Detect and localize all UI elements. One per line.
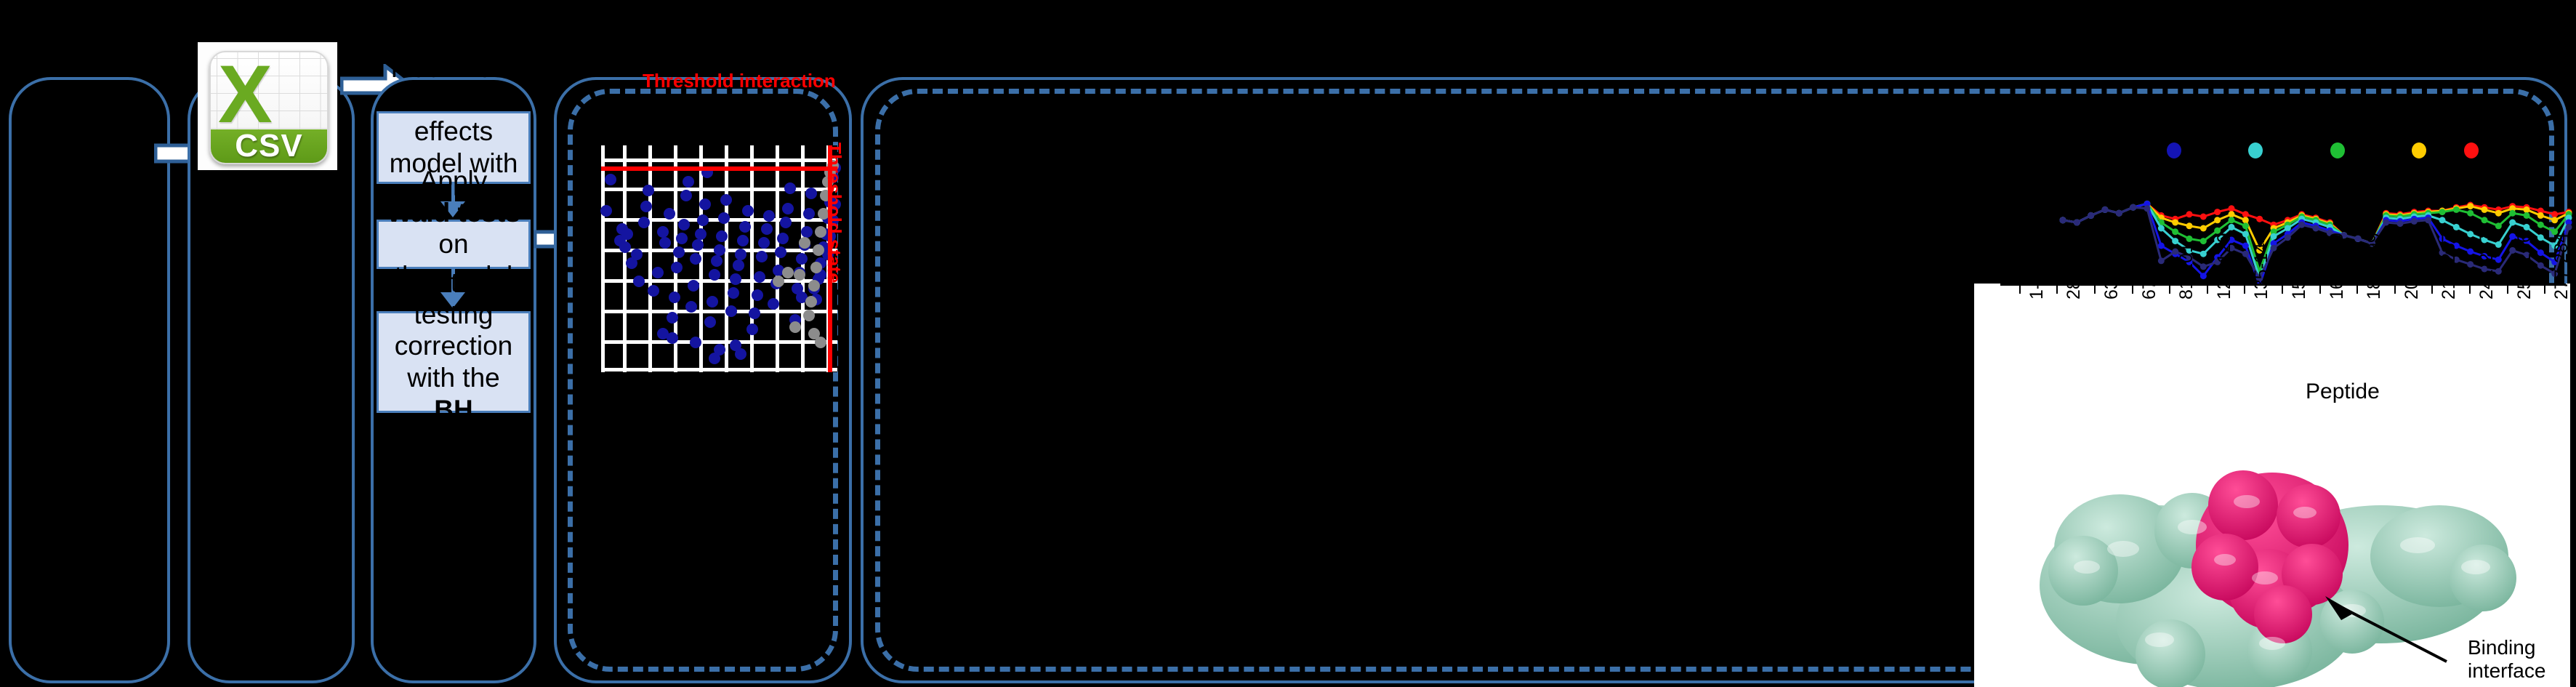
scatter-point (648, 285, 659, 297)
gridline-h (601, 158, 837, 162)
scatter-point (752, 289, 763, 301)
peptide-data-point (2200, 251, 2207, 257)
peptide-data-point (2060, 217, 2066, 223)
scatter-point (784, 182, 796, 194)
peptide-data-point (2229, 211, 2235, 217)
peptide-data-point (2509, 220, 2516, 226)
gridline-h (601, 368, 837, 371)
scatter-point (676, 233, 688, 244)
peptide-data-point (2242, 251, 2249, 257)
scatter-point (756, 251, 768, 262)
peptide-data-point (2482, 206, 2488, 213)
peptide-data-point (2537, 222, 2544, 228)
scatter-point (600, 205, 612, 217)
peptide-data-point (2229, 217, 2235, 223)
binding-interface-annotation: Binding interface (2468, 636, 2545, 683)
x-axis-tick (2094, 284, 2096, 294)
scatter-point (720, 194, 732, 206)
peptide-data-point (2116, 210, 2122, 217)
peptide-data-point (2256, 216, 2263, 222)
gridline-v (623, 145, 627, 372)
scatter-point (803, 310, 815, 321)
panel-1-empty (9, 77, 170, 683)
peptide-data-point (2411, 218, 2418, 225)
peptide-data-point (2102, 206, 2109, 213)
peptide-data-point (2524, 224, 2530, 230)
gridline-v (725, 145, 728, 372)
peptide-data-point (2313, 225, 2319, 232)
legend-dot-navy (2167, 142, 2181, 158)
peptide-data-point (2467, 249, 2474, 255)
scatter-point (782, 267, 794, 278)
legend-dot-green (2330, 142, 2345, 158)
peptide-data-point (2482, 217, 2488, 223)
peptide-data-point (2186, 236, 2193, 242)
x-axis-tick-label: 81-101 (2176, 243, 2197, 300)
peptide-data-point (2425, 217, 2431, 223)
scatter-point (695, 228, 707, 240)
peptide-data-point (2144, 205, 2151, 212)
peptide-data-point (2453, 224, 2460, 230)
scatter-point (733, 260, 744, 271)
x-axis-tick (2207, 284, 2208, 294)
step3-pre: with the (407, 363, 500, 393)
step2-post: on (438, 229, 468, 259)
peptide-data-point (2495, 222, 2502, 229)
peptide-data-point (2214, 209, 2221, 215)
scatter-point (775, 246, 786, 258)
scatter-point (801, 226, 813, 238)
binding-label-line1: Binding (2468, 636, 2545, 659)
peptide-data-point (2383, 220, 2389, 226)
peptide-data-point (2537, 249, 2544, 256)
scatter-point (652, 267, 664, 278)
peptide-data-point (2200, 225, 2207, 232)
peptide-data-point (2200, 238, 2207, 244)
x-axis-tick-label: 1-15 (2026, 263, 2048, 300)
x-axis-tick-label: 184-199 (2364, 233, 2385, 300)
scatter-point (789, 321, 801, 333)
x-axis-tick (2282, 284, 2283, 294)
scatter-point (730, 273, 741, 285)
scatter-point (749, 308, 760, 319)
x-axis-tick (2019, 284, 2021, 294)
scatter-point (739, 221, 751, 233)
scatter-point (709, 269, 720, 281)
scatter-point (777, 233, 789, 244)
legend-dot-red (2464, 142, 2479, 158)
x-axis-tick (2507, 284, 2508, 294)
x-axis-tick-label: 67-75 (2139, 253, 2160, 300)
scatter-point (633, 276, 645, 287)
gridline-v (750, 145, 754, 372)
peptide-data-point (2088, 212, 2094, 219)
x-axis-tick-label: 28-44 (2064, 253, 2085, 300)
scatter-point (735, 348, 746, 360)
peptide-data-point (2242, 243, 2249, 249)
scatter-point (796, 253, 808, 265)
scatter-point (754, 271, 765, 283)
peptide-data-point (2453, 206, 2460, 213)
peptide-data-point (2524, 206, 2530, 213)
scatter-point (761, 223, 773, 235)
scatter-point (725, 305, 737, 317)
scatter-point (716, 230, 728, 242)
x-axis-tick (2356, 284, 2358, 294)
x-axis-tick (2394, 284, 2396, 294)
threshold-interaction-line (601, 166, 837, 171)
peptide-data-point (2074, 220, 2080, 226)
x-axis-tick-label: 122-129 (2214, 233, 2235, 300)
peptide-data-point (2172, 228, 2178, 235)
step3-bold: BH (434, 395, 472, 425)
peptide-data-point (2397, 220, 2404, 227)
gridline-h (601, 310, 837, 313)
binding-label-line2: interface (2468, 659, 2545, 683)
peptide-data-point (2186, 211, 2193, 217)
scatter-point (671, 262, 683, 273)
peptide-data-point (2551, 217, 2558, 223)
scatter-point (704, 316, 716, 328)
gridline-v (776, 145, 779, 372)
scatter-point (669, 292, 680, 303)
threshold-interaction-label: Threshold interaction (643, 70, 836, 92)
peptide-data-point (2242, 222, 2249, 229)
x-axis-tick-label: 135-144 (2251, 233, 2272, 300)
peptide-data-point (2186, 222, 2193, 229)
peptide-data-point (2158, 243, 2165, 249)
scatter-point (763, 210, 775, 222)
peptide-data-point (2130, 204, 2136, 211)
step3-line1: Multiple testing (407, 268, 500, 329)
scatter-point (794, 269, 805, 281)
step-wald-tests: Apply Wald tests on the model parameters (377, 220, 531, 269)
peptide-data-point (2467, 210, 2474, 217)
peptide-data-point (2172, 220, 2178, 226)
scatter-point (697, 214, 709, 226)
step3-line2: correction (395, 331, 512, 361)
scatter-point (643, 185, 654, 196)
scatter-point (742, 205, 754, 217)
scatter-point (667, 312, 678, 324)
csv-band-label: CSV (235, 128, 302, 164)
peptide-data-point (2537, 212, 2544, 219)
x-axis-tick-label: 218-237 (2439, 233, 2460, 300)
scatter-point (718, 212, 730, 224)
peptide-data-point (2439, 209, 2446, 215)
threshold-scatter-plot (601, 145, 837, 372)
x-axis-tick-label: 158-166 (2289, 233, 2310, 300)
peptide-data-point (2242, 217, 2249, 223)
scatter-point (714, 244, 725, 256)
peptide-data-point (2200, 263, 2207, 270)
scatter-point (803, 208, 815, 220)
threshold-state-label: Threshold state (823, 142, 845, 284)
x-axis-tick (2244, 284, 2245, 294)
peptide-data-point (2537, 262, 2544, 269)
scatter-point (746, 324, 758, 335)
peptide-data-point (2242, 231, 2249, 238)
peptide-data-point (2551, 211, 2558, 217)
scatter-point (735, 249, 746, 260)
scatter-point (699, 198, 711, 210)
peptide-data-point (2467, 231, 2474, 238)
scatter-point (605, 174, 616, 185)
csv-file-icon: X CSV (209, 51, 329, 164)
legend-dot-cyan (2248, 142, 2263, 158)
x-axis-tick (2431, 284, 2433, 294)
legend-dot-yellow (2412, 142, 2426, 158)
scatter-point (758, 237, 770, 249)
csv-x-letter: X (218, 54, 273, 135)
scatter-point (638, 217, 650, 228)
scatter-point (711, 255, 723, 267)
scatter-point (780, 217, 792, 228)
x-axis-tick (2319, 284, 2321, 294)
peptide-data-point (2355, 236, 2362, 242)
peptide-data-point (2537, 234, 2544, 241)
x-axis-tick-label: 258-266 (2514, 233, 2535, 300)
peptide-data-point (2214, 217, 2221, 223)
step-bh-correction: Multiple testing correction with the BH … (377, 311, 531, 413)
x-axis-tick (2469, 284, 2471, 294)
scatter-point (690, 253, 701, 265)
step1-line1: Fit a linear mixed- (391, 53, 517, 115)
scatter-point (631, 249, 643, 260)
peptide-data-point (2200, 214, 2207, 220)
scatter-point (688, 280, 699, 292)
x-axis-tick-label: 277-284 (2551, 233, 2572, 300)
scatter-point (659, 237, 671, 249)
peptide-data-point (2158, 225, 2165, 232)
scatter-point (685, 301, 697, 313)
scatter-point (664, 208, 675, 220)
peptide-data-point (2439, 217, 2446, 223)
scatter-point (673, 246, 685, 258)
scatter-point (728, 287, 739, 299)
x-axis-tick-label: 167-180 (2327, 233, 2348, 300)
scatter-point (805, 296, 817, 308)
peptide-data-point (2298, 222, 2305, 228)
peptide-data-point (2495, 210, 2502, 217)
peptide-data-point (2566, 224, 2572, 230)
scatter-point (805, 188, 817, 199)
x-axis-tick (2544, 284, 2545, 294)
peptide-data-point (2200, 273, 2207, 279)
gridline-v (648, 145, 652, 372)
scatter-point (808, 280, 820, 292)
step2-pre: Apply (420, 166, 488, 196)
x-axis-tick-label: 241-257 (2476, 233, 2497, 300)
peptide-x-axis-label: Peptide (2306, 379, 2380, 404)
x-axis-tick-label: 200-214 (2402, 233, 2423, 300)
scatter-point (680, 190, 692, 201)
scatter-point (737, 235, 749, 246)
x-axis-tick (2169, 284, 2170, 294)
scatter-point (714, 344, 725, 355)
scatter-point (799, 237, 810, 249)
peptide-data-point (2524, 212, 2530, 219)
scatter-point (657, 226, 669, 238)
peptide-data-point (2229, 224, 2235, 230)
scatter-point (782, 203, 794, 214)
scatter-point (678, 219, 690, 230)
y-axis-tick-0: 0.0 (1981, 111, 2008, 133)
peptide-data-point (2285, 225, 2291, 232)
csv-band: CSV (211, 129, 327, 163)
scatter-point (773, 276, 784, 287)
scatter-point (683, 176, 694, 188)
scatter-point (707, 296, 718, 308)
gridline-h (601, 188, 837, 191)
peptide-data-point (2467, 203, 2474, 209)
peptide-data-point (2509, 210, 2516, 217)
step2-bold: Wald tests (387, 198, 520, 228)
peptide-data-point (2229, 205, 2235, 212)
scatter-point (657, 328, 669, 340)
x-axis-tick (2056, 284, 2058, 294)
scatter-point (640, 201, 652, 212)
x-axis-tick-label: 63-73 (2101, 253, 2122, 300)
x-axis-tick (2132, 284, 2133, 294)
scatter-point (619, 241, 631, 253)
scatter-point (621, 228, 633, 240)
peptide-data-point (2467, 261, 2474, 268)
step3-post: procedure (393, 426, 515, 456)
peptide-data-point (2242, 211, 2249, 217)
scatter-point (815, 337, 826, 348)
